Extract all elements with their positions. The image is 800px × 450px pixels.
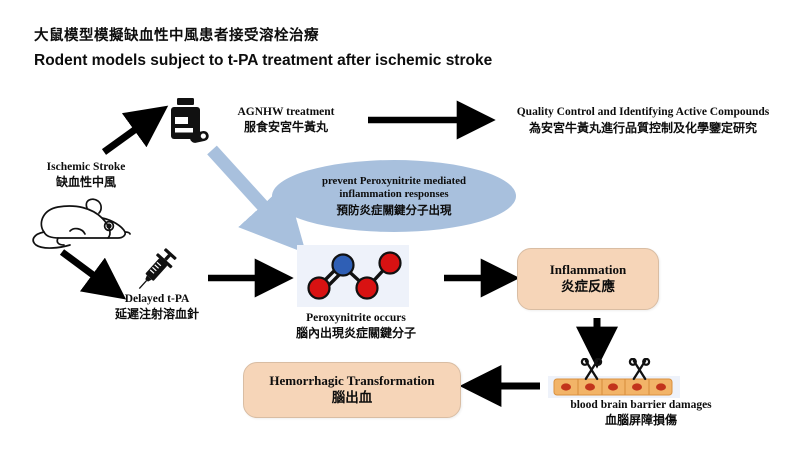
prevent-inflammation-label: prevent Peroxynitrite mediated inflammat… (322, 175, 466, 216)
prevent-label-en-line2: inflammation responses (322, 188, 466, 201)
inflammation-label-cn: 炎症反應 (550, 279, 627, 295)
hemorrhagic-transformation-box: Hemorrhagic Transformation 腦出血 (243, 362, 461, 418)
pill-bottle-icon (168, 98, 210, 148)
quality-control-label-en: Quality Control and Identifying Active C… (498, 105, 788, 119)
scissors-icon (630, 359, 649, 379)
ischemic-stroke-label: Ischemic Stroke 缺血性中風 (22, 160, 150, 190)
prevent-inflammation-ellipse: prevent Peroxynitrite mediated inflammat… (272, 160, 516, 232)
inflammation-box: Inflammation 炎症反應 (517, 248, 659, 310)
hemorrhagic-label-cn: 腦出血 (269, 390, 434, 406)
peroxynitrite-label-cn: 腦內出現炎症關鍵分子 (272, 326, 440, 341)
delayed-tpa-label: Delayed t-PA 延遲注射溶血針 (94, 292, 220, 322)
arrow-stroke-to-syringe (62, 252, 116, 292)
hemorrhagic-transformation-label: Hemorrhagic Transformation 腦出血 (269, 373, 434, 406)
ischemic-stroke-label-cn: 缺血性中風 (22, 175, 150, 190)
ischemic-stroke-label-en: Ischemic Stroke (22, 160, 150, 174)
mouse-illustration-icon (30, 196, 140, 252)
peroxynitrite-molecule-icon (297, 245, 409, 307)
peroxynitrite-label: Peroxynitrite occurs 腦內出現炎症關鍵分子 (272, 311, 440, 341)
bbb-damage-label-cn: 血腦屏障損傷 (530, 413, 752, 428)
peroxynitrite-molecule-box (297, 245, 409, 307)
inflammation-label-en: Inflammation (550, 262, 627, 278)
prevent-label-en-line1: prevent Peroxynitrite mediated (322, 175, 466, 188)
delayed-tpa-label-en: Delayed t-PA (94, 292, 220, 306)
peroxynitrite-label-en: Peroxynitrite occurs (272, 311, 440, 325)
bbb-damage-label-en: blood brain barrier damages (530, 398, 752, 412)
quality-control-label-cn: 為安宮牛黃丸進行品質控制及化學鑒定研究 (498, 121, 788, 136)
diagram-canvas: 大鼠模型模擬缺血性中風患者接受溶栓治療 Rodent models subjec… (0, 0, 800, 450)
agnhw-treatment-label: AGNHW treatment 服食安宮牛黃丸 (212, 105, 360, 135)
bbb-damage-label: blood brain barrier damages 血腦屏障損傷 (530, 398, 752, 428)
quality-control-label: Quality Control and Identifying Active C… (498, 105, 788, 136)
delayed-tpa-label-cn: 延遲注射溶血針 (94, 307, 220, 322)
inflammation-label: Inflammation 炎症反應 (550, 262, 627, 295)
scissors-icon (582, 359, 601, 379)
prevent-label-cn: 預防炎症關鍵分子出現 (322, 203, 466, 217)
hemorrhagic-label-en: Hemorrhagic Transformation (269, 373, 434, 389)
agnhw-label-cn: 服食安宮牛黃丸 (212, 120, 360, 135)
page-title-english: Rodent models subject to t-PA treatment … (34, 52, 492, 70)
syringe-icon (132, 248, 180, 292)
page-title-chinese: 大鼠模型模擬缺血性中風患者接受溶栓治療 (34, 24, 319, 45)
arrow-stroke-to-pill (104, 113, 158, 152)
agnhw-label-en: AGNHW treatment (212, 105, 360, 119)
